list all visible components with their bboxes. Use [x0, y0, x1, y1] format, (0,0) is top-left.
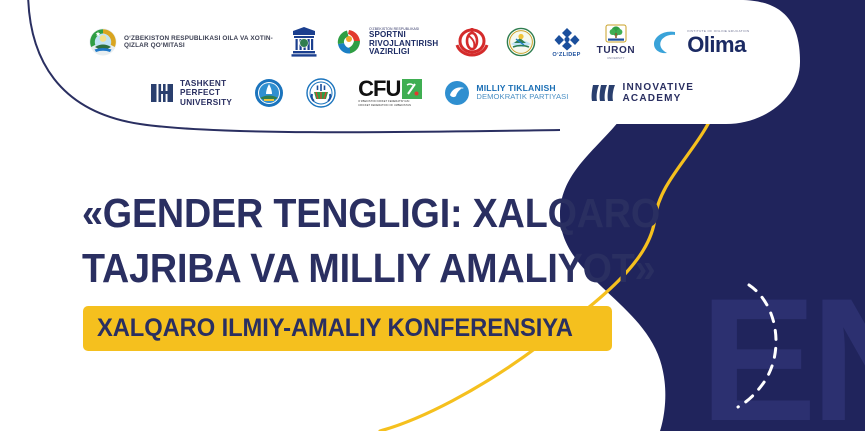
logo-innovative-line1: INNOVATIVE	[623, 82, 695, 94]
logo-ozlidep: O‘ZLIDEP	[552, 27, 580, 58]
logo-ozlidep-label: O‘ZLIDEP	[552, 52, 580, 58]
logo-milliy-text: MILLIY TIKLANISH DEMOKRATIK PARTIYASI	[476, 84, 568, 102]
headline-line-1: «GENDER TENGLIGI: XALQARO	[82, 186, 660, 241]
logo-innovative-text: INNOVATIVE ACADEMY	[623, 82, 695, 105]
logo-oila-text: O‘ZBEKISTON RESPUBLIKASI OILA VA XOTIN- …	[124, 35, 273, 49]
green-gold-seal-icon	[506, 27, 536, 57]
logo-sportni-rivojlantirish-vazirligi: O‘ZBEKISTON RESPUBLIKASI SPORTNI RIVOJLA…	[335, 28, 438, 57]
logo-turon-label: TURON	[597, 46, 636, 56]
logo-sport-line3: VAZIRLIGI	[369, 48, 438, 56]
turon-tree-crest-icon	[603, 24, 629, 46]
logo-row-2: TASHKENT PERFECT UNIVERSITY	[150, 78, 694, 108]
logo-tpu-line2: PERFECT	[180, 88, 232, 98]
logo-cfu-label: CFU	[358, 79, 400, 99]
logo-olima: INSTITUTE OF ONLINE EDUCATION Olima	[651, 28, 749, 56]
conference-subtitle-text: XALQARO ILMIY-AMALIY KONFERENSIYA	[97, 314, 573, 343]
logo-institute-circular-emblem	[306, 78, 336, 108]
logo-sport-text: O‘ZBEKISTON RESPUBLIKASI SPORTNI RIVOJLA…	[369, 28, 438, 57]
logo-oila-line1: O‘ZBEKISTON RESPUBLIKASI OILA VA XOTIN-	[124, 35, 273, 42]
ozlidep-diamond-icon	[554, 27, 580, 51]
conference-headline: «GENDER TENGLIGI: XALQARO TAJRIBA VA MIL…	[82, 186, 660, 296]
blue-circular-emblem-icon	[254, 78, 284, 108]
logo-turon-university: TURON UNIVERSITY	[597, 24, 636, 60]
headline-line-2: TAJRIBA VA MILLIY AMALIYOT»	[82, 241, 660, 296]
partner-logo-band: O‘ZBEKISTON RESPUBLIKASI OILA VA XOTIN- …	[0, 0, 865, 128]
sport-ministry-icon	[335, 28, 363, 56]
watermark-ent-text: ENT	[700, 263, 865, 431]
logo-red-wreath-emblem	[454, 27, 490, 57]
uzbekistan-state-emblem-icon	[88, 27, 118, 57]
logo-green-gold-seal	[506, 27, 536, 57]
red-wreath-emblem-icon	[454, 27, 490, 57]
logo-innovative-line2: ACADEMY	[623, 93, 695, 105]
logo-tpu-line3: UNIVERSITY	[180, 98, 232, 108]
logo-innovative-academy: INNOVATIVE ACADEMY	[591, 82, 695, 105]
logo-milliy-line2: DEMOKRATIK PARTIYASI	[476, 93, 568, 102]
logo-cfu-sub1: O‘ZBEKISTON KRIKET FEDERATSIYASI	[358, 100, 422, 103]
logo-blue-circular-emblem	[254, 78, 284, 108]
poster-canvas: ENT	[0, 0, 865, 431]
logo-tpu-line1: TASHKENT	[180, 79, 232, 89]
logo-tpu-text: TASHKENT PERFECT UNIVERSITY	[180, 79, 232, 108]
tpu-bars-icon	[150, 82, 174, 104]
logo-cricket-federation-uzbekistan: CFU O‘ZBEKISTON KRIKET FEDERATSIYASI CRI…	[358, 79, 422, 107]
innovative-academy-bars-icon	[591, 82, 617, 104]
logo-turon-sub: UNIVERSITY	[607, 57, 625, 60]
logo-tashkent-perfect-university: TASHKENT PERFECT UNIVERSITY	[150, 79, 232, 108]
logo-oila-line2: QIZLAR QO‘MITASI	[124, 42, 273, 49]
logo-cfu-sub2: CRICKET FEDERATION OF UZBEKISTAN	[358, 104, 422, 107]
milliy-tiklanish-bird-icon	[444, 80, 470, 106]
conference-subtitle-banner: XALQARO ILMIY-AMALIY KONFERENSIYA	[83, 306, 612, 351]
logo-milliy-tiklanish-partiyasi: MILLIY TIKLANISH DEMOKRATIK PARTIYASI	[444, 80, 568, 106]
logo-row-1: O‘ZBEKISTON RESPUBLIKASI OILA VA XOTIN- …	[88, 24, 750, 60]
logo-oila-va-xotin-qizlar-qomitasi: O‘ZBEKISTON RESPUBLIKASI OILA VA XOTIN- …	[88, 27, 273, 57]
cfu-cricket-icon	[402, 79, 422, 99]
logo-university-crest	[289, 26, 319, 58]
university-building-crest-icon	[289, 26, 319, 58]
institute-circular-emblem-icon	[306, 78, 336, 108]
logo-olima-label: Olima	[687, 34, 749, 56]
olima-swirl-icon	[651, 28, 681, 56]
